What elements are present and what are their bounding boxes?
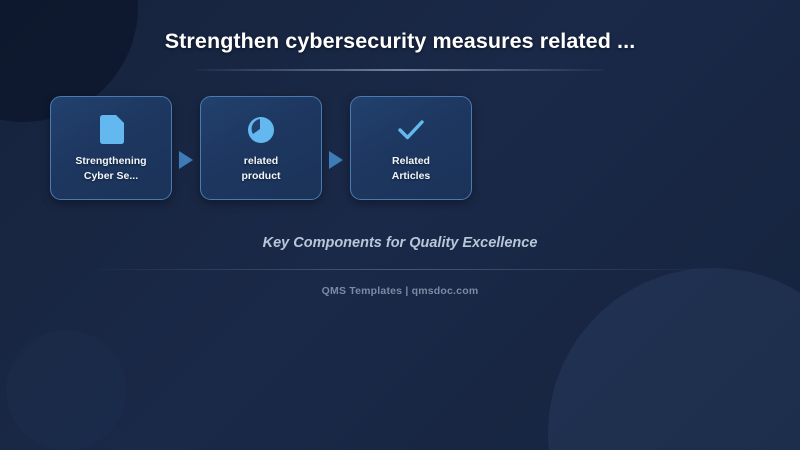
arrow-right-icon — [179, 151, 193, 169]
title-divider — [196, 69, 604, 71]
slide-subtitle: Key Components for Quality Excellence — [0, 235, 800, 251]
flow-card-2-label: related product — [209, 154, 313, 184]
flow-card-2[interactable]: related product — [200, 96, 322, 200]
flow-card-3-label: Related Articles — [359, 154, 463, 184]
flow-card-3-label-line1: Related — [359, 154, 463, 169]
pie-chart-icon — [246, 113, 276, 147]
check-icon — [395, 113, 427, 147]
flow-card-2-label-line1: related — [209, 154, 313, 169]
arrow-right-icon — [329, 151, 343, 169]
flow-card-3[interactable]: Related Articles — [350, 96, 472, 200]
slide-footer: QMS Templates | qmsdoc.com — [0, 285, 800, 297]
slide-canvas: Strengthen cybersecurity measures relate… — [0, 0, 800, 450]
flow-card-1-label-line1: Strengthening — [59, 154, 163, 169]
footer-divider — [98, 269, 702, 270]
slide-title: Strengthen cybersecurity measures relate… — [0, 29, 800, 54]
flow-card-1-label: Strengthening Cyber Se... — [59, 154, 163, 184]
flow-connector-2 — [322, 151, 350, 169]
flow-card-1-label-line2: Cyber Se... — [59, 169, 163, 184]
flow-connector-1 — [172, 151, 200, 169]
flow-card-3-label-line2: Articles — [359, 169, 463, 184]
process-flow: Strengthening Cyber Se... related produc… — [50, 96, 472, 200]
document-icon — [97, 113, 125, 147]
flow-card-2-label-line2: product — [209, 169, 313, 184]
slide-content: Strengthen cybersecurity measures relate… — [0, 0, 800, 450]
flow-card-1[interactable]: Strengthening Cyber Se... — [50, 96, 172, 200]
